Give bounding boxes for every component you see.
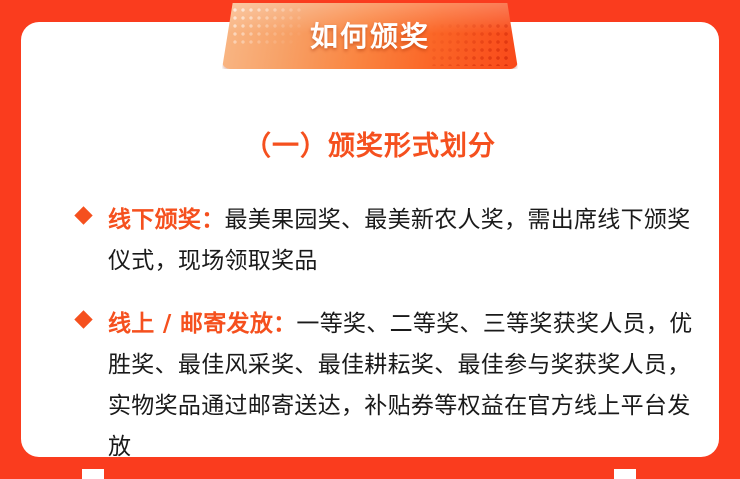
title-ribbon: 如何颁奖 — [222, 3, 518, 69]
bullet-list: 线下颁奖：最美果园奖、最美新农人奖，需出席线下颁奖仪式，现场领取奖品 线上 / … — [77, 200, 701, 479]
content-card: （一）颁奖形式划分 线下颁奖：最美果园奖、最美新农人奖，需出席线下颁奖仪式，现场… — [21, 22, 719, 457]
list-item-text: 线下颁奖：最美果园奖、最美新农人奖，需出席线下颁奖仪式，现场领取奖品 — [108, 200, 701, 282]
diamond-bullet-icon — [74, 310, 92, 328]
list-item-text: 线上 / 邮寄发放：一等奖、二等奖、三等奖获奖人员，优胜奖、最佳风采奖、最佳耕耘… — [108, 304, 701, 468]
bottom-notch-left — [82, 469, 104, 479]
list-item: 线上 / 邮寄发放：一等奖、二等奖、三等奖获奖人员，优胜奖、最佳风采奖、最佳耕耘… — [77, 304, 701, 468]
list-item-label: 线下颁奖： — [108, 207, 225, 233]
section-heading: （一）颁奖形式划分 — [21, 124, 719, 163]
list-item: 线下颁奖：最美果园奖、最美新农人奖，需出席线下颁奖仪式，现场领取奖品 — [77, 200, 701, 282]
diamond-bullet-icon — [74, 206, 92, 224]
bottom-notch-right — [614, 469, 636, 479]
page-title: 如何颁奖 — [222, 3, 518, 69]
list-item-label: 线上 / 邮寄发放： — [108, 311, 296, 337]
promo-poster: （一）颁奖形式划分 线下颁奖：最美果园奖、最美新农人奖，需出席线下颁奖仪式，现场… — [0, 0, 740, 479]
